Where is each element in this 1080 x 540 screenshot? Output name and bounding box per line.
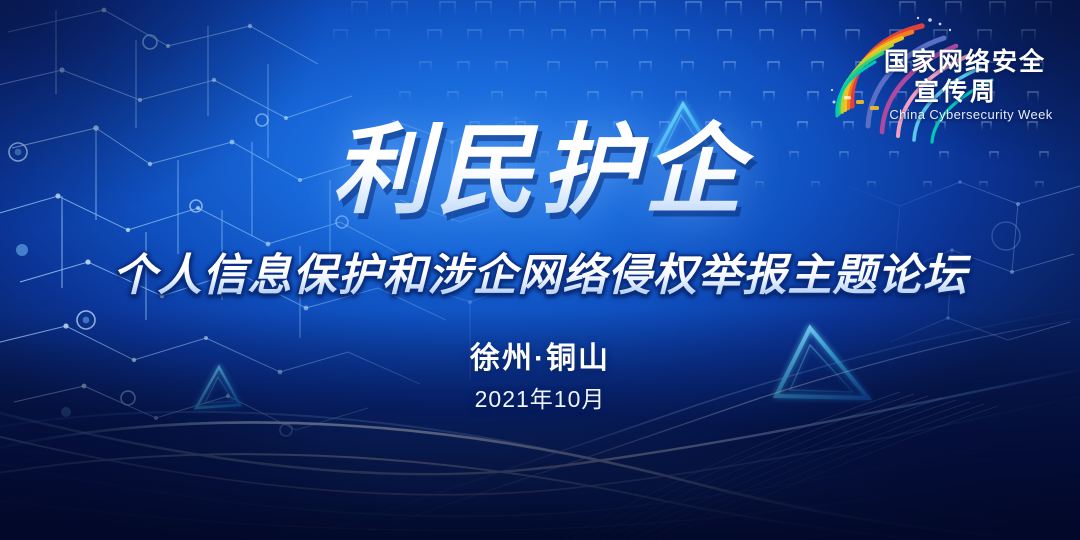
conference-banner: 利民护企 个人信息保护和涉企网络侵权举报主题论坛 徐州·铜山 2021年10月 xyxy=(0,0,1080,540)
logo-subtitle-en: China Cybersecurity Week xyxy=(880,107,1062,122)
china-cybersecurity-week-logo: 国家网络安全 宣传周 China Cybersecurity Week xyxy=(826,14,1062,146)
event-date: 2021年10月 xyxy=(0,384,1080,414)
logo-title-line2: 宣传周 xyxy=(914,72,998,108)
event-location: 徐州·铜山 xyxy=(0,341,1080,377)
sub-title: 个人信息保护和涉企网络侵权举报主题论坛 xyxy=(0,249,1080,303)
